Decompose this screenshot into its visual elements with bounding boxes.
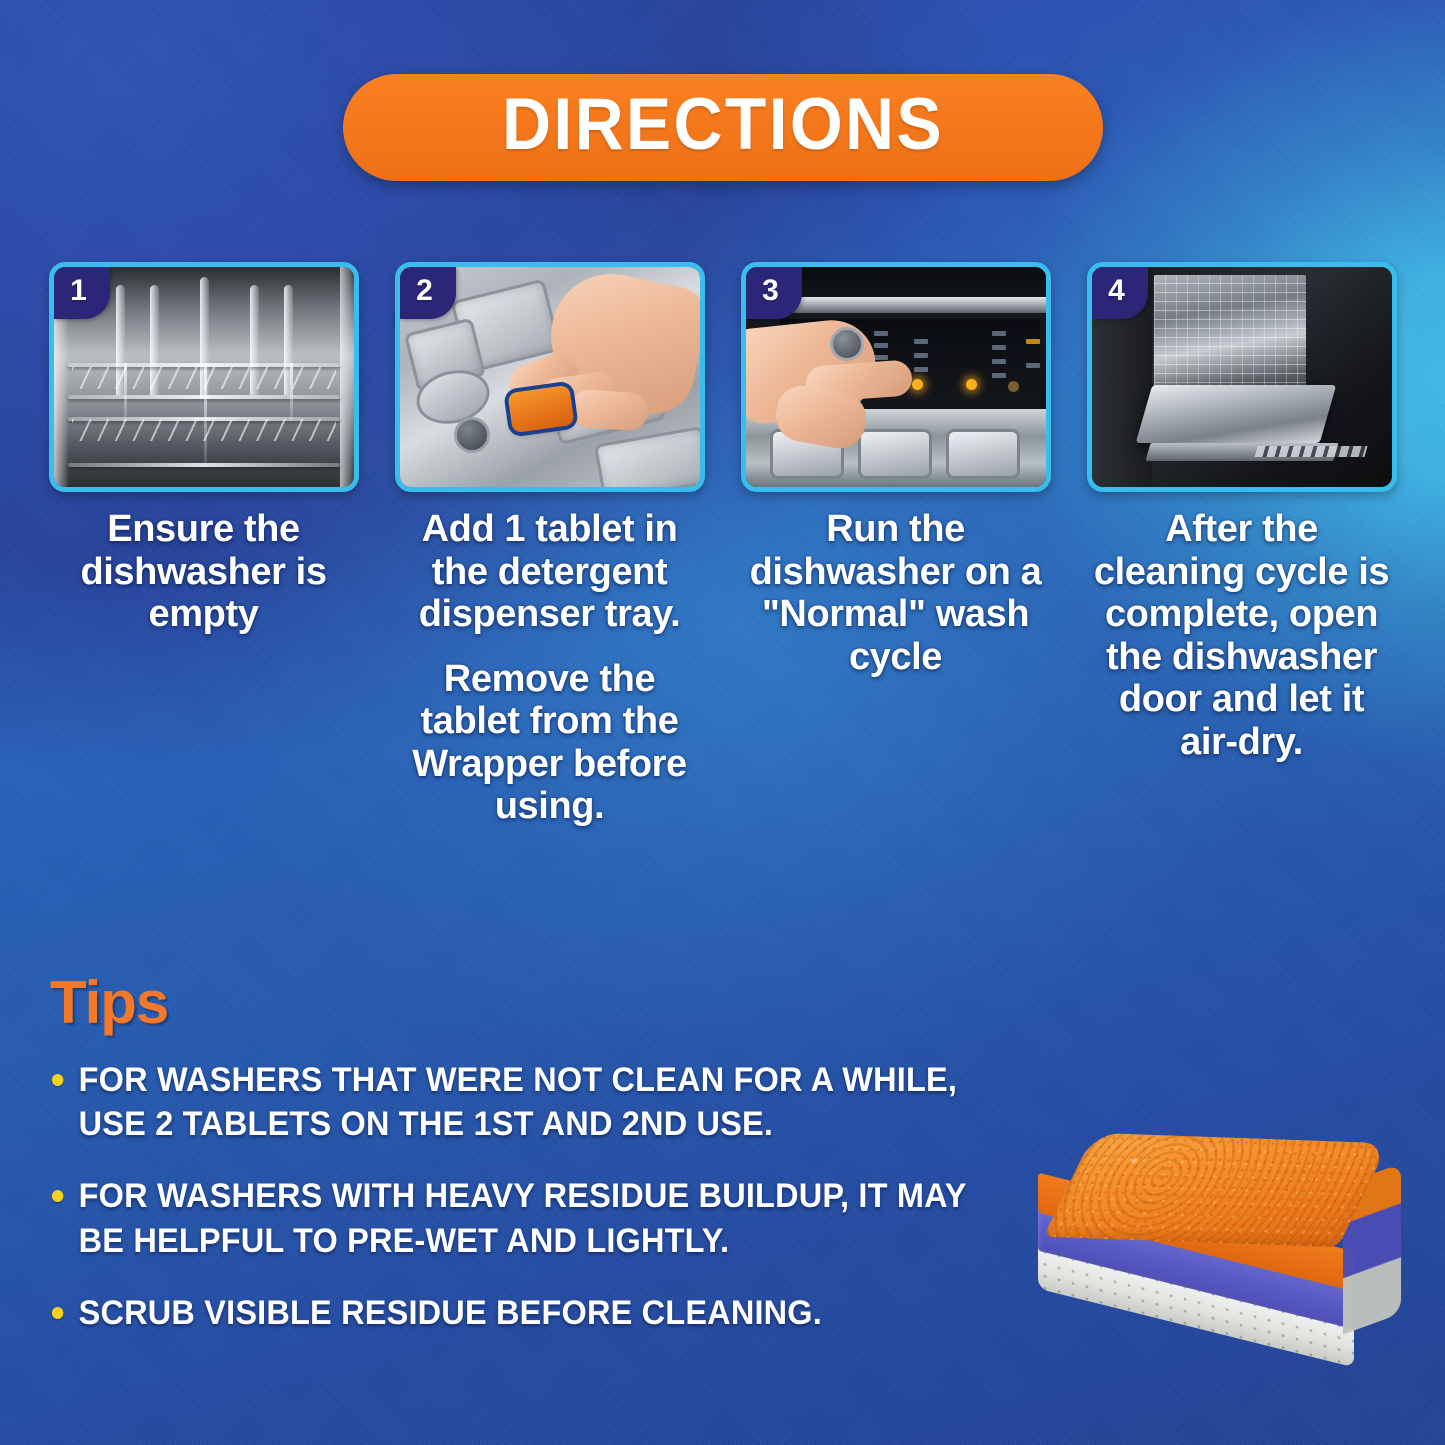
step-1-caption: Ensure the dishwasher is empty [49, 508, 359, 636]
step-2-number-badge: 2 [400, 267, 456, 319]
step-2-caption-line-1: Add 1 tablet in the detergent dispenser … [395, 508, 705, 636]
tips-list: FOR WASHERS THAT WERE NOT CLEAN FOR A WH… [50, 1058, 1040, 1363]
page-title: DIRECTIONS [442, 88, 1004, 161]
step-2-caption-line-2: Remove the tablet from the Wrapper befor… [395, 658, 705, 828]
step-3-image: 3 [741, 262, 1051, 492]
step-2-caption: Add 1 tablet in the detergent dispenser … [395, 508, 705, 828]
step-4-caption: After the cleaning cycle is complete, op… [1087, 508, 1397, 763]
step-1-caption-line-1: Ensure the dishwasher is empty [49, 508, 359, 636]
step-4-image: 4 [1087, 262, 1397, 492]
tip-item-2: FOR WASHERS WITH HEAVY RESIDUE BUILDUP, … [50, 1174, 995, 1262]
tip-item-3: SCRUB VISIBLE RESIDUE BEFORE CLEANING. [50, 1291, 995, 1335]
three-layer-cleaning-tablet-photo [1032, 1138, 1407, 1353]
step-2: 2 Add 1 tablet in the detergent dispense… [395, 262, 705, 828]
tablet-top-speckles [1043, 1133, 1389, 1247]
tip-item-2-text: FOR WASHERS WITH HEAVY RESIDUE BUILDUP, … [79, 1177, 966, 1259]
step-4-number: 4 [1108, 276, 1125, 306]
steps-row: 1 Ensure the dishwasher is empty [0, 262, 1445, 828]
step-4-number-badge: 4 [1092, 267, 1148, 319]
step-3-number-badge: 3 [746, 267, 802, 319]
step-2-number: 2 [416, 276, 433, 306]
title-banner-container: DIRECTIONS [0, 74, 1445, 181]
step-1-image: 1 [49, 262, 359, 492]
tip-item-3-text: SCRUB VISIBLE RESIDUE BEFORE CLEANING. [79, 1294, 822, 1332]
bullet-dot-icon [52, 1074, 63, 1086]
infographic-page: DIRECTIONS [0, 0, 1445, 1445]
step-1-number: 1 [70, 276, 87, 306]
step-4: 4 After the cleaning cycle is complete, … [1087, 262, 1397, 828]
tip-item-1: FOR WASHERS THAT WERE NOT CLEAN FOR A WH… [50, 1058, 995, 1146]
step-2-image: 2 [395, 262, 705, 492]
step-3: 3 Run the dishwasher on a "Normal" wash … [741, 262, 1051, 828]
tip-item-1-text: FOR WASHERS THAT WERE NOT CLEAN FOR A WH… [79, 1061, 957, 1143]
step-4-caption-line-1: After the cleaning cycle is complete, op… [1087, 508, 1397, 763]
bullet-dot-icon [52, 1190, 63, 1202]
step-1: 1 Ensure the dishwasher is empty [49, 262, 359, 828]
tips-heading: Tips [50, 968, 168, 1037]
step-1-number-badge: 1 [54, 267, 110, 319]
step-3-caption: Run the dishwasher on a "Normal" wash cy… [741, 508, 1051, 678]
step-3-caption-line-1: Run the dishwasher on a "Normal" wash cy… [741, 508, 1051, 678]
directions-banner: DIRECTIONS [343, 74, 1103, 181]
step-3-number: 3 [762, 276, 779, 306]
bullet-dot-icon [52, 1307, 63, 1319]
